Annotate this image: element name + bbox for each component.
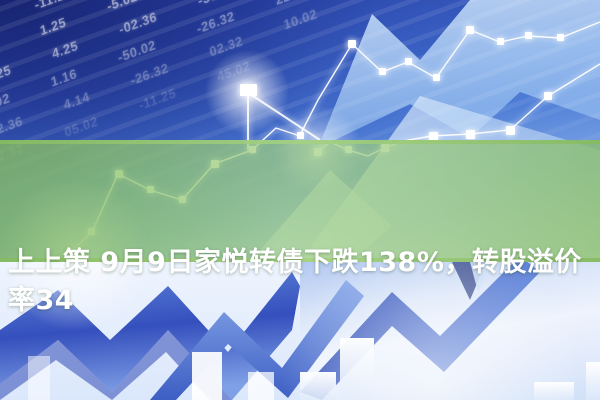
page-title: 上上策 9月9日家悦转债下跌138%，转股溢价率34 46% [0,168,600,400]
ticker-value: -11.25 [137,84,177,112]
ticker-value: 4.25 [51,37,80,61]
news-banner: -05.02 -02.35 21.05 45.02 -4.05 -03.03 -… [0,0,600,400]
ticker-value: 4.14 [62,88,91,112]
headline-band-top-edge [0,140,600,144]
ticker-value: 1.25 [38,14,67,38]
ticker-value: 05.02 [63,113,99,140]
headline-line-1: 上上策 9月9日家悦转债下跌138%，转股溢价率34 [6,244,594,320]
headline-line-2: 46% [6,396,594,400]
ticker-value: 1.16 [49,65,78,89]
ticker-value: 45.02 [215,57,251,84]
